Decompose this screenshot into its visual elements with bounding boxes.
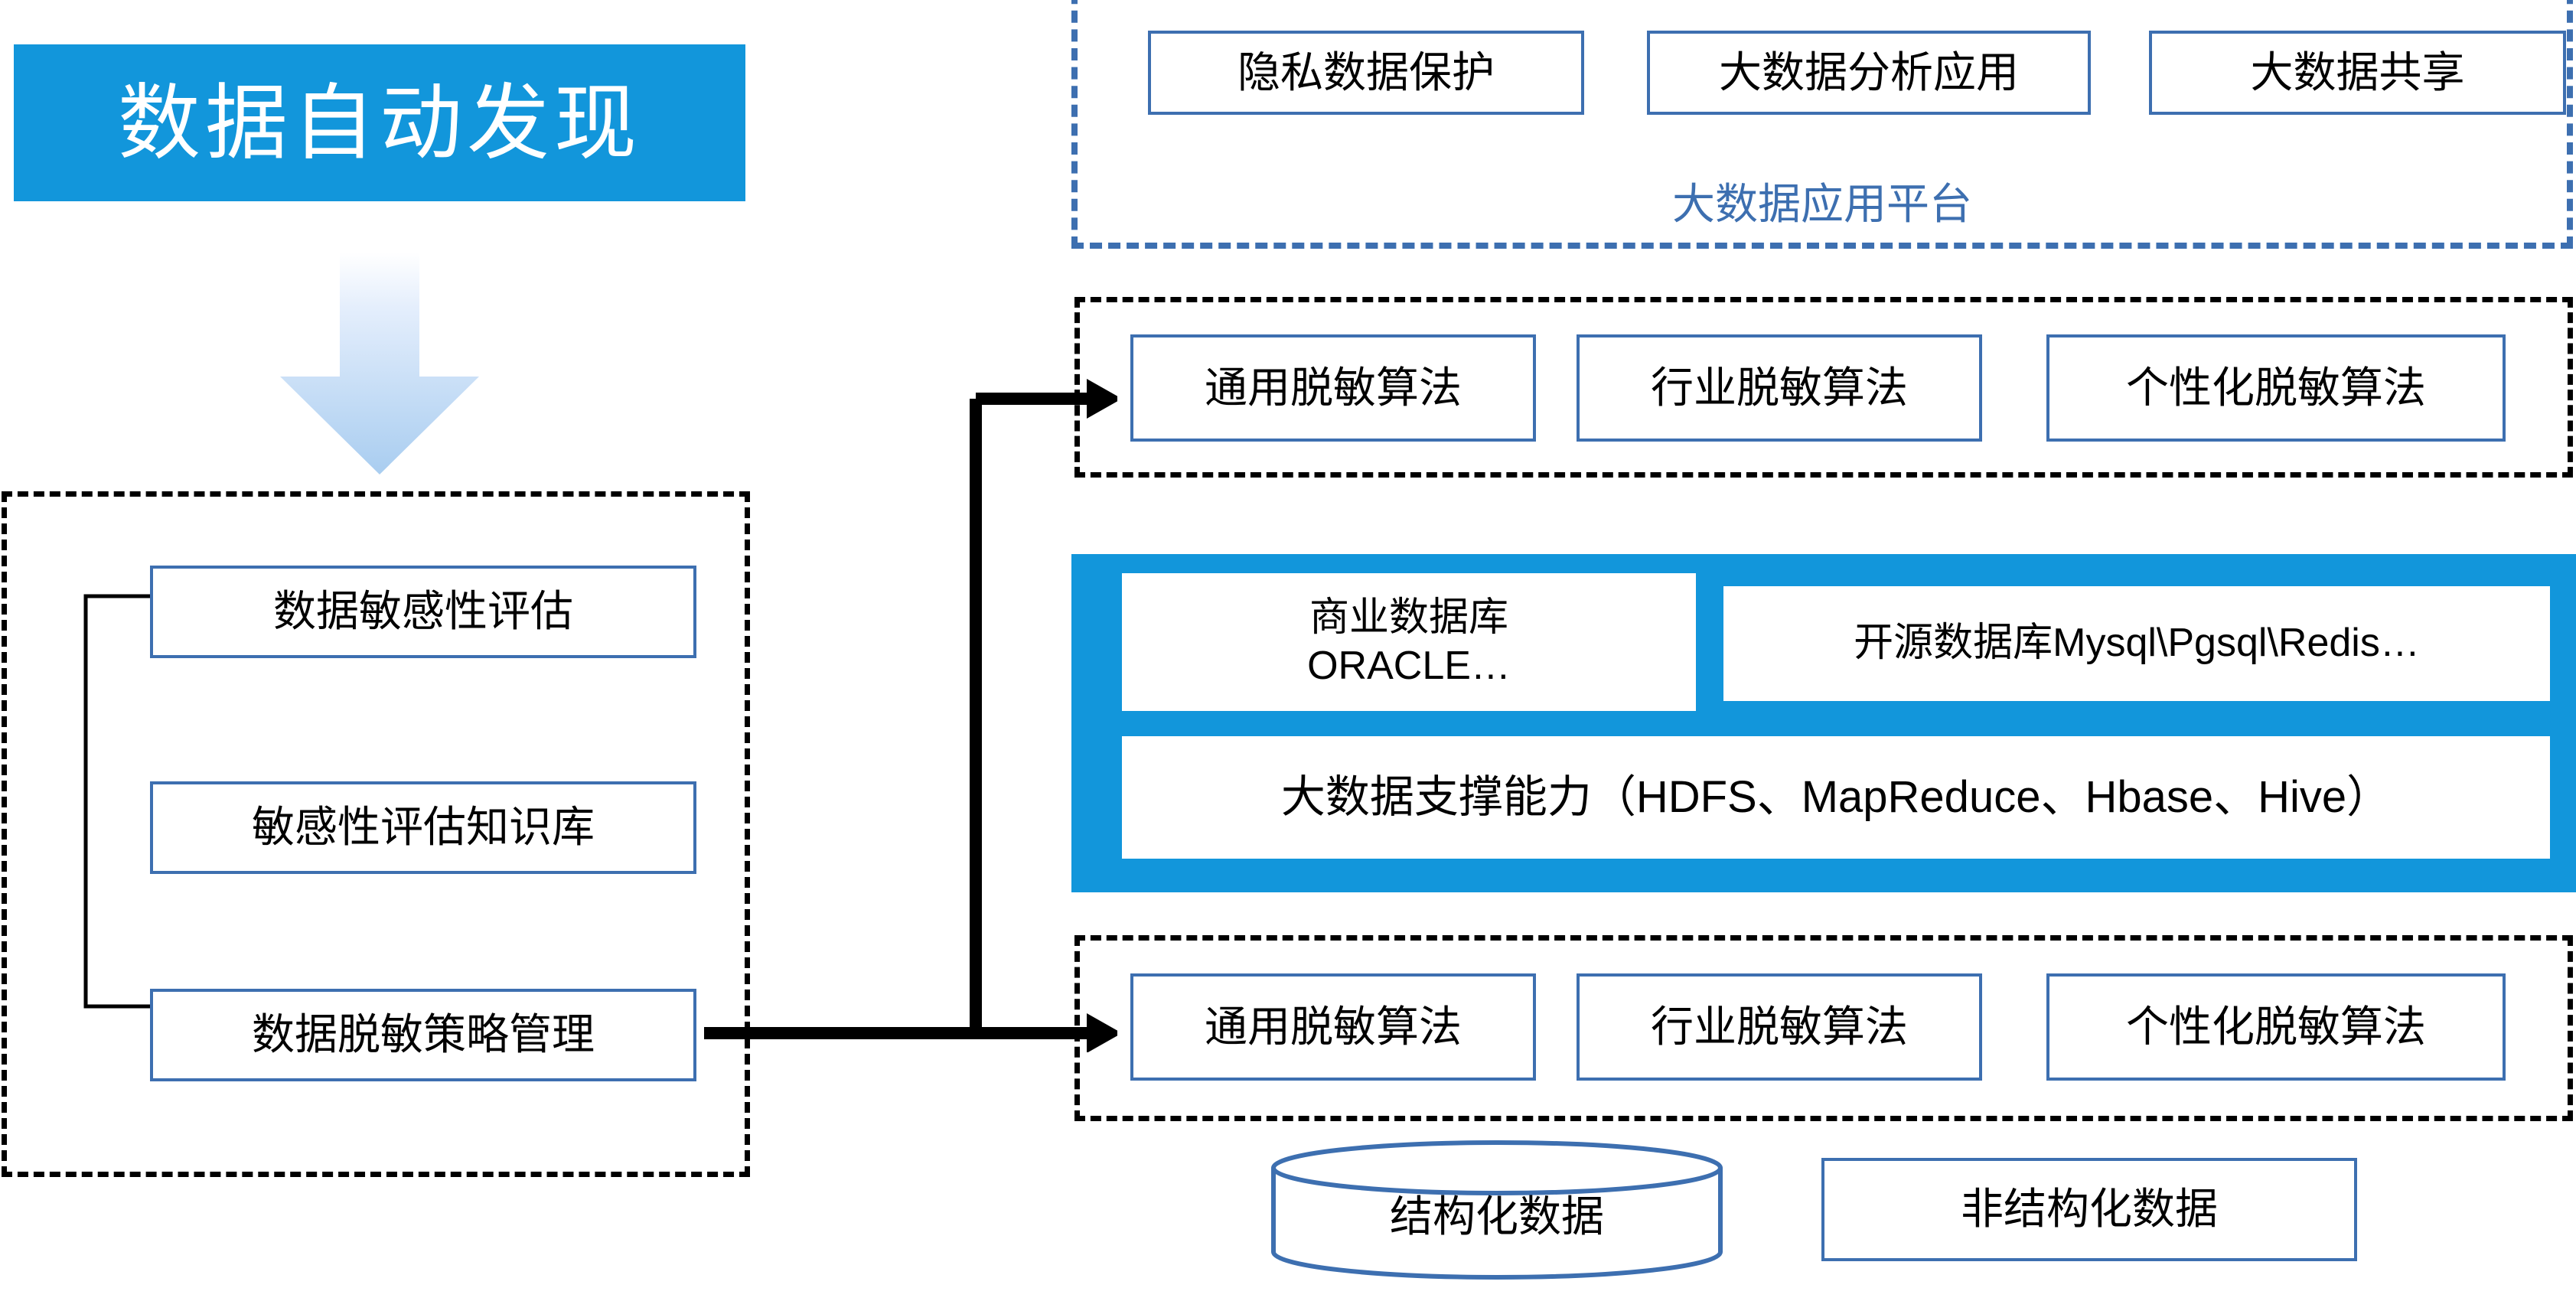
box-personalized-masking-algorithm-top[interactable]: 个性化脱敏算法 <box>2046 334 2506 442</box>
down-arrow-icon <box>257 253 502 474</box>
box-commercial-database[interactable]: 商业数据库 ORACLE… <box>1122 573 1696 711</box>
page-title: 数据自动发现 <box>118 82 641 165</box>
box-general-masking-algorithm-top[interactable]: 通用脱敏算法 <box>1130 334 1536 442</box>
box-privacy-data-protection[interactable]: 隐私数据保护 <box>1148 31 1584 115</box>
connector-policy-to-algorithms <box>689 379 1117 1052</box>
box-sensitivity-knowledge-base[interactable]: 敏感性评估知识库 <box>150 781 696 874</box>
box-data-sensitivity-assessment[interactable]: 数据敏感性评估 <box>150 566 696 658</box>
box-big-data-capability[interactable]: 大数据支撑能力（HDFS、MapReduce、Hbase、Hive） <box>1122 736 2550 859</box>
box-personalized-masking-algorithm-bottom[interactable]: 个性化脱敏算法 <box>2046 973 2506 1081</box>
box-general-masking-algorithm-bottom[interactable]: 通用脱敏算法 <box>1130 973 1536 1081</box>
box-unstructured-data[interactable]: 非结构化数据 <box>1821 1158 2357 1261</box>
box-big-data-analysis-app[interactable]: 大数据分析应用 <box>1647 31 2091 115</box>
box-industry-masking-algorithm-top[interactable]: 行业脱敏算法 <box>1577 334 1982 442</box>
panel-caption-big-data-platform: 大数据应用平台 <box>1071 170 2573 232</box>
diagram-canvas: 数据自动发现 数据敏感性评估 敏感性评估知识库 数据脱敏策略管理 隐私数据保 <box>0 0 2576 1301</box>
box-industry-masking-algorithm-bottom[interactable]: 行业脱敏算法 <box>1577 973 1982 1081</box>
label-structured-data: 结构化数据 <box>1267 1182 1727 1244</box>
box-masking-policy-management[interactable]: 数据脱敏策略管理 <box>150 989 696 1081</box>
box-opensource-database[interactable]: 开源数据库Mysql\Pgsql\Redis… <box>1723 586 2550 701</box>
title-banner: 数据自动发现 <box>14 44 745 201</box>
box-big-data-sharing[interactable]: 大数据共享 <box>2149 31 2566 115</box>
